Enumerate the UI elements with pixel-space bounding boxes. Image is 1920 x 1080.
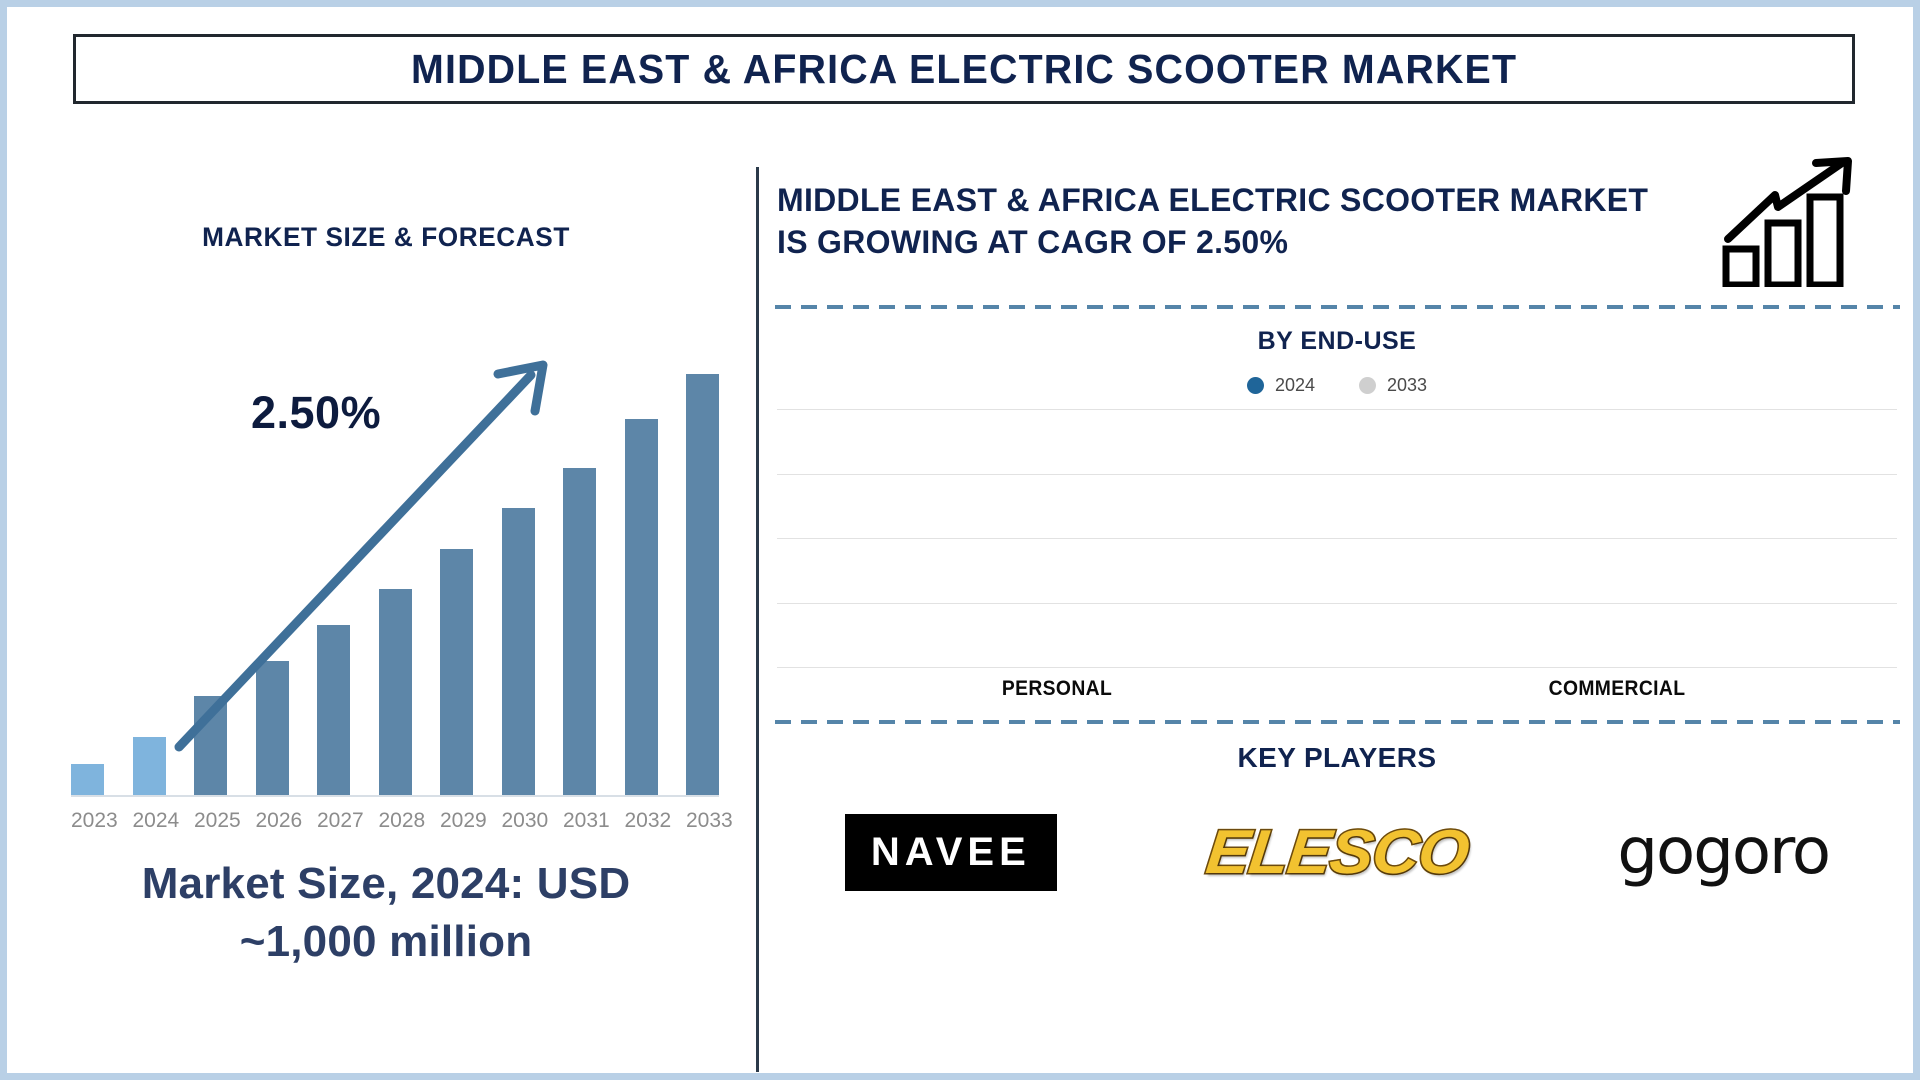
- bar-2025: [194, 696, 227, 795]
- year-label: 2028: [379, 809, 412, 833]
- end-use-bar-groups: [777, 409, 1897, 667]
- market-size-value: Market Size, 2024: USD ~1,000 million: [31, 855, 741, 971]
- legend-item-2024: 2024: [1247, 375, 1315, 396]
- legend-label: 2024: [1275, 375, 1315, 396]
- year-label: 2023: [71, 809, 104, 833]
- bar-2027: [317, 625, 350, 795]
- market-size-bars: [71, 347, 719, 795]
- bar-chart-growth-icon: [1720, 157, 1865, 287]
- title-banner: MIDDLE EAST & AFRICA ELECTRIC SCOOTER MA…: [73, 34, 1855, 104]
- legend-label: 2033: [1387, 375, 1427, 396]
- bar-2032: [625, 419, 658, 795]
- infographic-page: MIDDLE EAST & AFRICA ELECTRIC SCOOTER MA…: [0, 0, 1920, 1080]
- year-label: 2029: [440, 809, 473, 833]
- year-label: 2024: [133, 809, 166, 833]
- market-size-bar-chart: [51, 347, 731, 797]
- bar-2029: [440, 549, 473, 795]
- dashed-divider-bottom: [775, 720, 1900, 724]
- bar-2030: [502, 508, 535, 795]
- end-use-bar-chart: [777, 409, 1897, 667]
- bar-2023: [71, 764, 104, 795]
- logo-elesco: ELESCO: [1202, 817, 1471, 888]
- logo-navee: NAVEE: [845, 814, 1057, 891]
- year-label: 2033: [686, 809, 719, 833]
- chart-baseline: [71, 795, 719, 797]
- by-end-use-title: BY END-USE: [767, 327, 1907, 356]
- category-label-personal: PERSONAL: [882, 677, 1232, 701]
- market-details-panel: MIDDLE EAST & AFRICA ELECTRIC SCOOTER MA…: [767, 137, 1907, 1072]
- market-size-year-axis: 2023 2024 2025 2026 2027 2028 2029 2030 …: [71, 809, 719, 833]
- year-label: 2032: [625, 809, 658, 833]
- bar-2026: [256, 661, 289, 795]
- year-label: 2027: [317, 809, 350, 833]
- year-label: 2025: [194, 809, 227, 833]
- market-size-forecast-heading: MARKET SIZE & FORECAST: [32, 222, 740, 253]
- legend-item-2033: 2033: [1359, 375, 1427, 396]
- bar-2031: [563, 468, 596, 795]
- panel-divider: [756, 167, 759, 1072]
- logo-gogoro: gogoro: [1617, 815, 1829, 889]
- page-title: MIDDLE EAST & AFRICA ELECTRIC SCOOTER MA…: [411, 46, 1517, 93]
- key-players-title: KEY PLAYERS: [767, 742, 1907, 774]
- year-label: 2026: [256, 809, 289, 833]
- market-size-line-2: ~1,000 million: [31, 913, 741, 971]
- year-label: 2030: [502, 809, 535, 833]
- key-players-logos: NAVEE ELESCO gogoro: [767, 792, 1907, 912]
- end-use-legend: 2024 2033: [767, 375, 1907, 396]
- year-label: 2031: [563, 809, 596, 833]
- end-use-category-axis: PERSONAL COMMERCIAL: [777, 677, 1897, 701]
- growth-headline: MIDDLE EAST & AFRICA ELECTRIC SCOOTER MA…: [777, 179, 1677, 263]
- legend-dot-icon: [1359, 377, 1376, 394]
- bar-2033: [686, 374, 719, 795]
- market-size-forecast-panel: MARKET SIZE & FORECAST 2.50%: [21, 137, 751, 1067]
- category-label-commercial: COMMERCIAL: [1442, 677, 1792, 701]
- market-size-line-1: Market Size, 2024: USD: [31, 855, 741, 913]
- bar-2028: [379, 589, 412, 795]
- legend-dot-icon: [1247, 377, 1264, 394]
- dashed-divider-top: [775, 305, 1900, 309]
- bar-2024: [133, 737, 166, 795]
